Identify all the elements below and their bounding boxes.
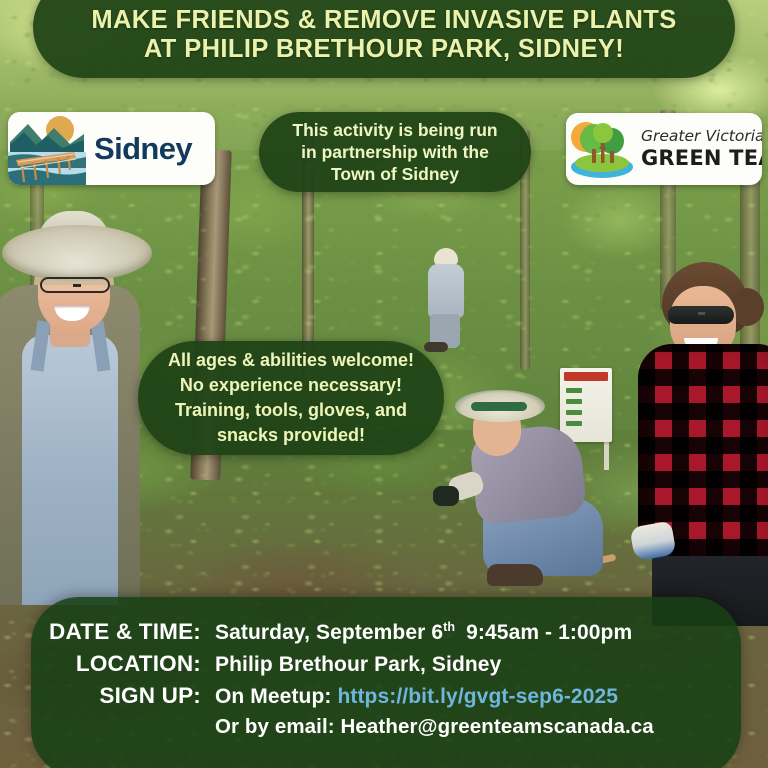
sunglasses — [668, 306, 734, 324]
location-label: LOCATION: — [31, 651, 215, 677]
date-time-label: DATE & TIME: — [31, 619, 215, 645]
inclusivity-line-4: snacks provided! — [217, 423, 365, 448]
inclusivity-banner: All ages & abilities welcome! No experie… — [138, 341, 444, 455]
meetup-prefix: On Meetup: — [215, 685, 332, 708]
signup-link[interactable]: https://bit.ly/gvgt-sep6-2025 — [337, 685, 618, 708]
signup-label: SIGN UP: — [31, 683, 215, 709]
date-ordinal-suffix: th — [443, 620, 455, 634]
event-poster: MAKE FRIENDS & REMOVE INVASIVE PLANTS AT… — [0, 0, 768, 768]
time-range-text: 9:45am - 1:00pm — [466, 621, 632, 644]
inclusivity-line-1: All ages & abilities welcome! — [168, 348, 414, 373]
title-line-1: MAKE FRIENDS & REMOVE INVASIVE PLANTS — [91, 6, 676, 35]
boot — [424, 342, 448, 352]
date-time-row: DATE & TIME: Saturday, September 6th9:45… — [31, 619, 741, 645]
signup-email-value: Or by email: Heather@greenteamscanada.ca — [215, 715, 654, 739]
volunteer-in-red-plaid-flannel — [636, 262, 768, 622]
greater-victoria-green-team-logo: Greater Victoria GREEN TEAM — [566, 113, 762, 185]
partnership-line-1: This activity is being run — [292, 119, 497, 141]
partnership-line-2: in partnership with the — [301, 141, 489, 163]
sidney-wordmark: Sidney — [86, 131, 192, 167]
inclusivity-line-2: No experience necessary! — [180, 373, 402, 398]
wide-brim-hat — [2, 225, 152, 281]
title-line-2: AT PHILIP BRETHOUR PARK, SIDNEY! — [144, 35, 624, 64]
distant-walking-volunteer — [418, 248, 474, 348]
date-time-value: Saturday, September 6th9:45am - 1:00pm — [215, 620, 632, 645]
boot — [487, 564, 543, 586]
location-value: Philip Brethour Park, Sidney — [215, 653, 501, 677]
eyeglasses — [40, 277, 110, 293]
hat-band — [471, 402, 527, 411]
location-row: LOCATION: Philip Brethour Park, Sidney — [31, 651, 741, 677]
green-team-trees-island-emblem — [566, 115, 638, 183]
sign-header — [564, 372, 608, 381]
green-team-line-top: Greater Victoria — [641, 129, 762, 145]
signup-meetup-value: On Meetup: https://bit.ly/gvgt-sep6-2025 — [215, 685, 618, 709]
email-row: Or by email: Heather@greenteamscanada.ca — [31, 715, 741, 739]
event-details-panel: DATE & TIME: Saturday, September 6th9:45… — [31, 597, 741, 768]
hand — [433, 486, 459, 506]
signup-row: SIGN UP: On Meetup: https://bit.ly/gvgt-… — [31, 683, 741, 709]
denim-overalls — [22, 335, 118, 605]
inclusivity-line-3: Training, tools, gloves, and — [175, 398, 407, 423]
green-team-line-bottom: GREEN TEAM — [641, 148, 762, 169]
poster-title-banner: MAKE FRIENDS & REMOVE INVASIVE PLANTS AT… — [33, 0, 735, 78]
partnership-banner: This activity is being run in partnershi… — [259, 112, 531, 192]
partnership-line-3: Town of Sidney — [331, 163, 459, 185]
email-address[interactable]: Heather@greenteamscanada.ca — [340, 715, 653, 738]
date-day-text: Saturday, September 6 — [215, 621, 443, 644]
town-of-sidney-logo: Sidney — [8, 112, 215, 185]
email-prefix: Or by email: — [215, 715, 335, 738]
sidney-pier-mountains-emblem — [8, 112, 86, 185]
jacket — [428, 264, 464, 318]
volunteer-kneeling-with-gloves — [445, 390, 615, 590]
